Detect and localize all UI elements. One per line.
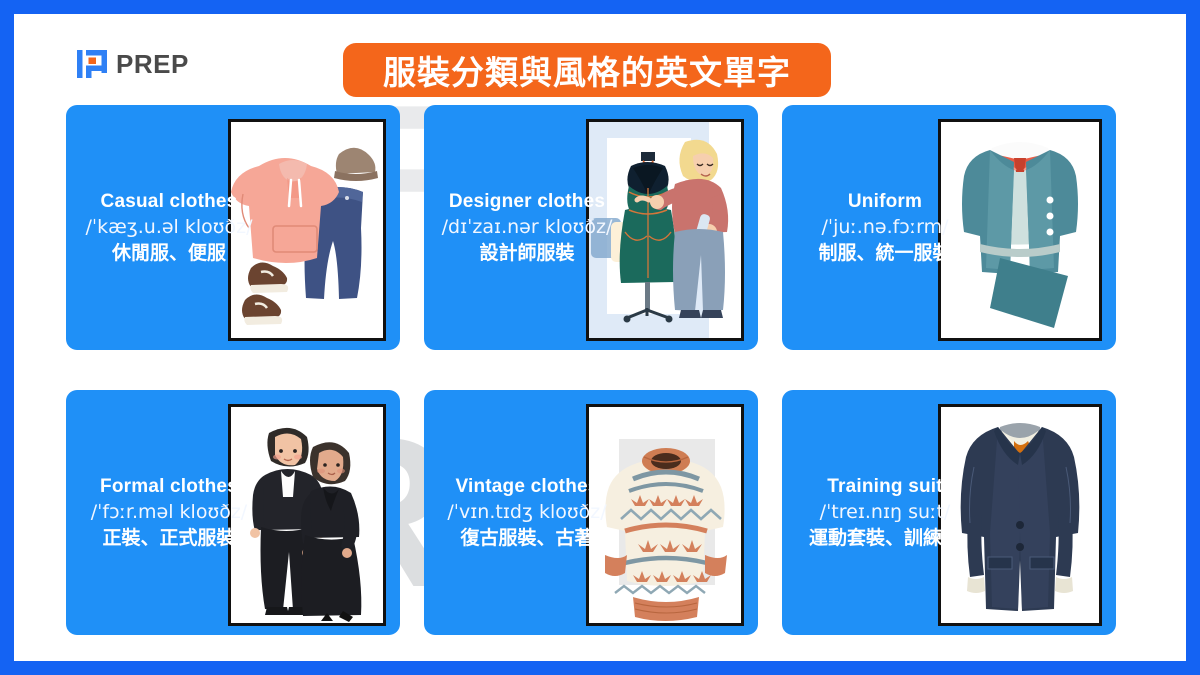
- vocab-card-formal-clothes[interactable]: Formal clothes /ˈfɔːr.məl kloʊðz/ 正裝、正式服…: [66, 390, 400, 635]
- vocab-word: Uniform: [790, 189, 980, 214]
- page-title-banner: 服裝分類與風格的英文單字: [343, 43, 831, 97]
- vocab-translation: 制服、統一服裝: [790, 241, 980, 266]
- vocabulary-grid: Casual clothes /ˈkæʒ.u.əl kloʊðz/ 休閒服、便服: [66, 105, 1136, 641]
- vocab-ipa: /dɪˈzaɪ.nər kloʊðz/: [432, 215, 622, 240]
- vocab-card-casual-clothes[interactable]: Casual clothes /ˈkæʒ.u.əl kloʊðz/ 休閒服、便服: [66, 105, 400, 350]
- prep-logo-icon: [76, 48, 108, 80]
- vocab-ipa: /ˈtreɪ.nɪŋ suːt/: [790, 500, 980, 525]
- brand-logo[interactable]: PREP: [76, 48, 189, 80]
- vocab-word: Training suit: [790, 474, 980, 499]
- vocab-translation: 運動套裝、訓練服: [790, 526, 980, 551]
- vocab-translation: 休閒服、便服: [74, 241, 264, 266]
- vocab-card-uniform[interactable]: Uniform /ˈjuː.nə.fɔːrm/ 制服、統一服裝: [782, 105, 1116, 350]
- vocab-translation: 正裝、正式服裝: [74, 526, 264, 551]
- vocab-ipa: /ˈkæʒ.u.əl kloʊðz/: [74, 215, 264, 240]
- vocab-ipa: /ˈjuː.nə.fɔːrm/: [790, 215, 980, 240]
- vocab-card-text: Training suit /ˈtreɪ.nɪŋ suːt/ 運動套裝、訓練服: [782, 474, 980, 552]
- vocab-ipa: /ˈvɪn.tɪdʒ kloʊðz/: [432, 500, 622, 525]
- brand-logo-text: PREP: [116, 49, 189, 80]
- vocab-word: Designer clothes: [432, 189, 622, 214]
- page-title: 服裝分類與風格的英文單字: [383, 46, 791, 94]
- vocab-card-text: Designer clothes /dɪˈzaɪ.nər kloʊðz/ 設計師…: [424, 189, 622, 267]
- header: PREP 服裝分類與風格的英文單字: [14, 14, 1186, 104]
- vocab-card-training-suit[interactable]: Training suit /ˈtreɪ.nɪŋ suːt/ 運動套裝、訓練服: [782, 390, 1116, 635]
- poster-page: PREP PREP PREP 服裝分類與風格的英文單字 Casual cloth…: [14, 14, 1186, 661]
- vocab-translation: 復古服裝、古著: [432, 526, 622, 551]
- vocab-word: Vintage clothes: [432, 474, 622, 499]
- vocab-card-text: Formal clothes /ˈfɔːr.məl kloʊðz/ 正裝、正式服…: [66, 474, 264, 552]
- vocab-translation: 設計師服裝: [432, 241, 622, 266]
- vocab-card-text: Casual clothes /ˈkæʒ.u.əl kloʊðz/ 休閒服、便服: [66, 189, 264, 267]
- vocab-word: Casual clothes: [74, 189, 264, 214]
- vocab-card-text: Vintage clothes /ˈvɪn.tɪdʒ kloʊðz/ 復古服裝、…: [424, 474, 622, 552]
- vocab-card-text: Uniform /ˈjuː.nə.fɔːrm/ 制服、統一服裝: [782, 189, 980, 267]
- vocab-card-vintage-clothes[interactable]: Vintage clothes /ˈvɪn.tɪdʒ kloʊðz/ 復古服裝、…: [424, 390, 758, 635]
- vocab-ipa: /ˈfɔːr.məl kloʊðz/: [74, 500, 264, 525]
- vocab-word: Formal clothes: [74, 474, 264, 499]
- vocab-card-designer-clothes[interactable]: Designer clothes /dɪˈzaɪ.nər kloʊðz/ 設計師…: [424, 105, 758, 350]
